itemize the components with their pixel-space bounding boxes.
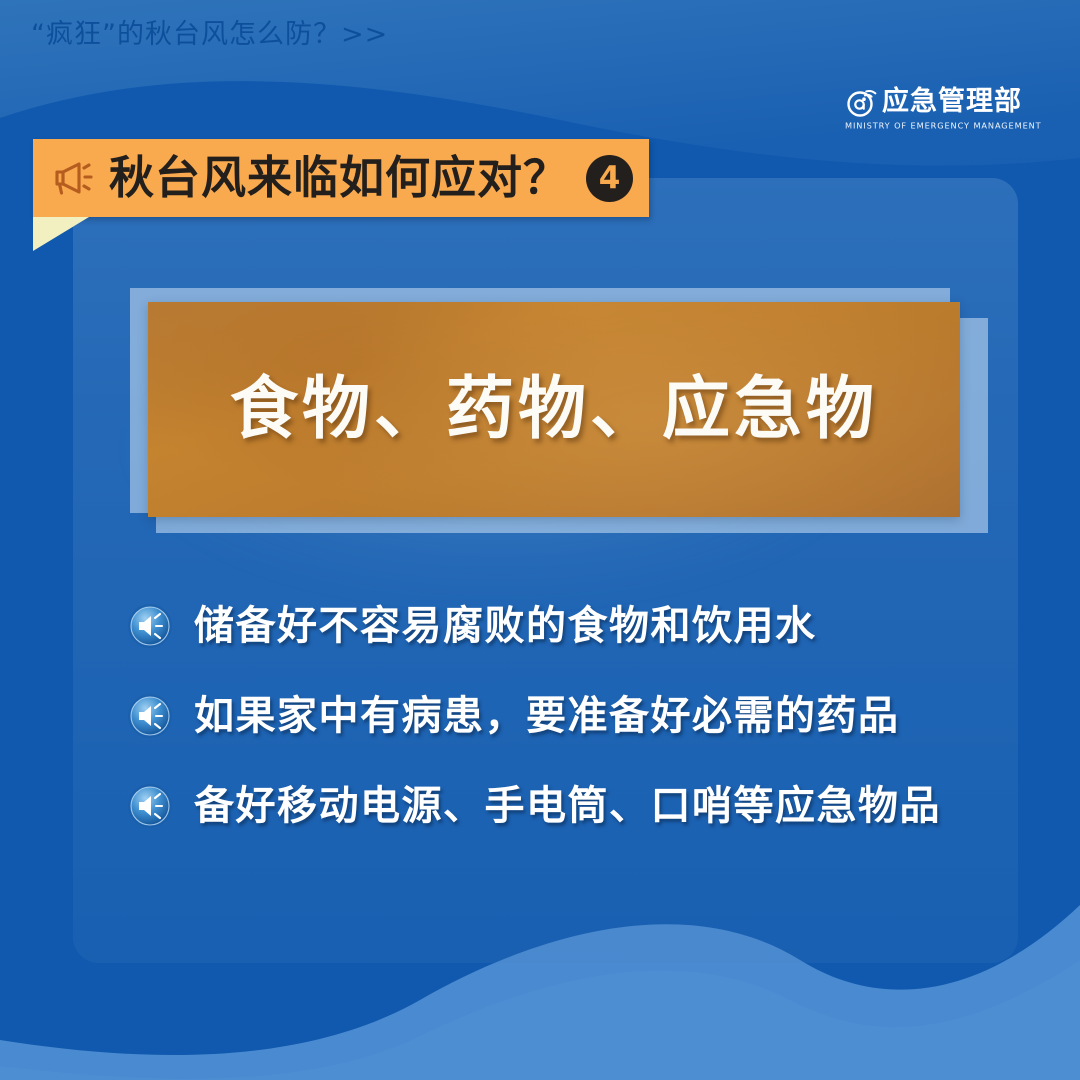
megaphone-icon: [50, 155, 96, 201]
list-item-text: 如果家中有病患，要准备好必需的药品: [194, 690, 900, 742]
logo-name-en: MINISTRY OF EMERGENCY MANAGEMENT: [845, 121, 1020, 131]
page-headline: “疯狂”的秋台风怎么防？>>: [31, 15, 388, 55]
speaker-icon: [126, 692, 174, 740]
hero-card-wrapper: 食物、药物、应急物: [120, 283, 990, 533]
speaker-icon: [126, 782, 174, 830]
at-wifi-icon: [845, 86, 877, 118]
list-item: 如果家中有病患，要准备好必需的药品: [126, 685, 956, 747]
banner-title-text: 秋台风来临如何应对？: [109, 152, 569, 204]
list-item: 储备好不容易腐败的食物和饮用水: [126, 595, 956, 657]
logo-row: 应急管理部: [845, 85, 1020, 119]
banner-step-number: 4: [586, 155, 633, 202]
title-banner: 秋台风来临如何应对？ 4: [33, 139, 649, 217]
list-item-text: 备好移动电源、手电筒、口哨等应急物品: [194, 780, 941, 832]
banner-fold-corner: [33, 217, 89, 251]
ministry-logo: 应急管理部 MINISTRY OF EMERGENCY MANAGEMENT: [845, 85, 1020, 137]
list-item-text: 储备好不容易腐败的食物和饮用水: [194, 600, 817, 652]
logo-name-cn: 应急管理部: [882, 86, 1022, 118]
hero-card: 食物、药物、应急物: [148, 302, 960, 517]
poster-root: “疯狂”的秋台风怎么防？>> 应急管理部 MINISTRY OF EMERGEN…: [0, 0, 1080, 1080]
list-item: 备好移动电源、手电筒、口哨等应急物品: [126, 775, 956, 837]
speaker-icon: [126, 602, 174, 650]
tips-list: 储备好不容易腐败的食物和饮用水 如果家中有病患，要准备好必需的药品: [126, 595, 956, 865]
hero-title: 食物、药物、应急物: [230, 371, 878, 449]
title-banner-wrapper: 秋台风来临如何应对？ 4: [33, 139, 649, 217]
